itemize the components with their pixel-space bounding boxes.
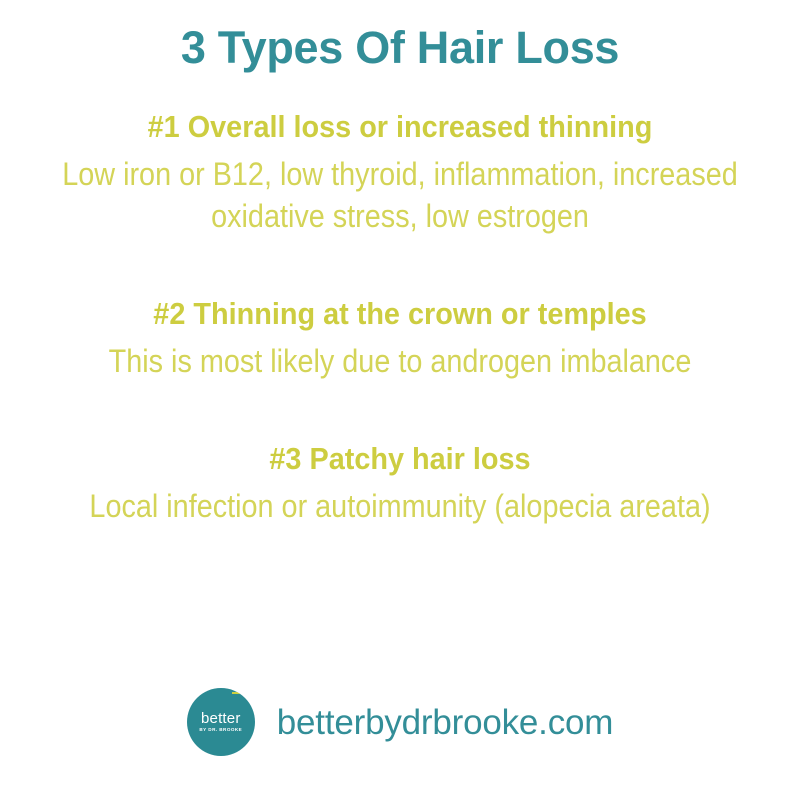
section-3-body: Local infection or autoimmunity (alopeci… — [58, 485, 742, 527]
sections-list: #1 Overall loss or increased thinning Lo… — [20, 108, 780, 527]
hair-loss-type-3: #3 Patchy hair loss Local infection or a… — [20, 440, 780, 527]
section-3-heading: #3 Patchy hair loss — [47, 440, 754, 478]
logo-tagline: BY DR. BROOKE — [199, 728, 242, 733]
hair-loss-type-1: #1 Overall loss or increased thinning Lo… — [20, 108, 780, 237]
footer: better BY DR. BROOKE betterbydrbrooke.co… — [0, 688, 800, 756]
section-2-heading: #2 Thinning at the crown or temples — [47, 295, 754, 333]
section-2-body: This is most likely due to androgen imba… — [58, 340, 742, 382]
logo-wordmark: better — [201, 711, 241, 726]
website-url[interactable]: betterbydrbrooke.com — [277, 705, 613, 740]
logo-crossbar-icon — [232, 692, 247, 694]
hair-loss-type-2: #2 Thinning at the crown or temples This… — [20, 295, 780, 382]
section-1-body: Low iron or B12, low thyroid, inflammati… — [58, 153, 742, 237]
section-1-heading: #1 Overall loss or increased thinning — [47, 108, 754, 146]
infographic-poster: 3 Types Of Hair Loss #1 Overall loss or … — [0, 0, 800, 800]
brand-logo-icon: better BY DR. BROOKE — [187, 688, 255, 756]
page-title: 3 Types Of Hair Loss — [181, 22, 619, 74]
